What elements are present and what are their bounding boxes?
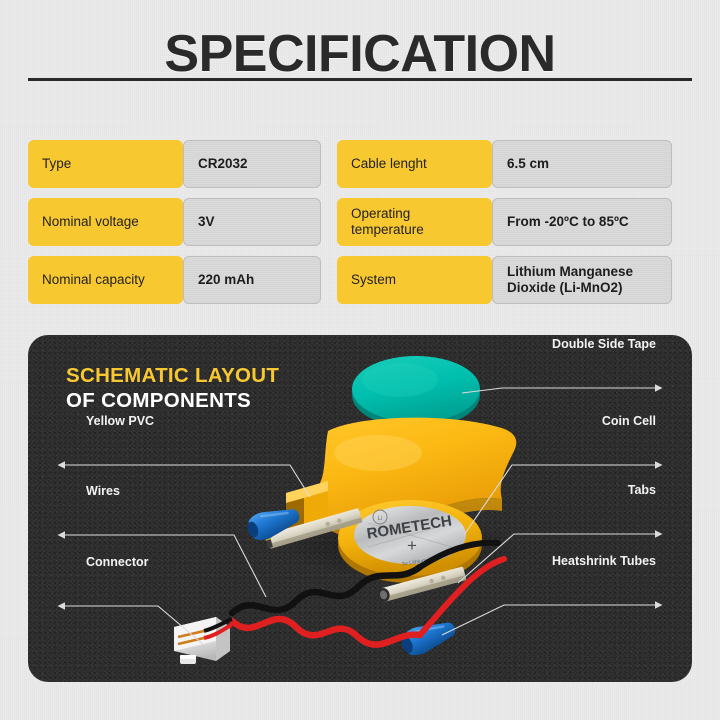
callout-label-heatshrink-tubes: Heatshrink Tubes: [552, 554, 656, 568]
callout-leader-lines: [28, 335, 692, 682]
spec-key-nominal-capacity: Nominal capacity: [28, 256, 183, 304]
header: SPECIFICATION: [0, 28, 720, 80]
specification-infographic: SPECIFICATION Type CR2032 Nominal voltag…: [0, 0, 720, 720]
spec-key-type: Type: [28, 140, 183, 188]
specification-table: Type CR2032 Nominal voltage 3V Nominal c…: [28, 140, 692, 304]
spec-key-system: System: [337, 256, 492, 304]
spec-key-cable-lenght: Cable lenght: [337, 140, 492, 188]
callout-label-double-side-tape: Double Side Tape: [552, 337, 656, 351]
schematic-layout-card: SCHEMATIC LAYOUT OF COMPONENTS: [28, 335, 692, 682]
callout-label-coin-cell: Coin Cell: [602, 414, 656, 428]
callout-label-yellow-pvc: Yellow PVC: [86, 414, 154, 428]
spec-value-nominal-capacity: 220 mAh: [183, 256, 321, 304]
callout-label-wires: Wires: [86, 484, 120, 498]
callout-label-connector: Connector: [86, 555, 149, 569]
title-divider: [28, 78, 692, 81]
spec-value-nominal-voltage: 3V: [183, 198, 321, 246]
spec-value-operating-temperature: From -20ºC to 85ºC: [492, 198, 672, 246]
spec-value-type: CR2032: [183, 140, 321, 188]
spec-key-operating-temperature: Operating temperature: [337, 198, 492, 246]
page-title: SPECIFICATION: [0, 28, 720, 80]
callout-label-tabs: Tabs: [628, 483, 656, 497]
spec-value-cable-lenght: 6.5 cm: [492, 140, 672, 188]
spec-value-system: Lithium Manganese Dioxide (Li-MnO2): [492, 256, 672, 304]
spec-key-nominal-voltage: Nominal voltage: [28, 198, 183, 246]
